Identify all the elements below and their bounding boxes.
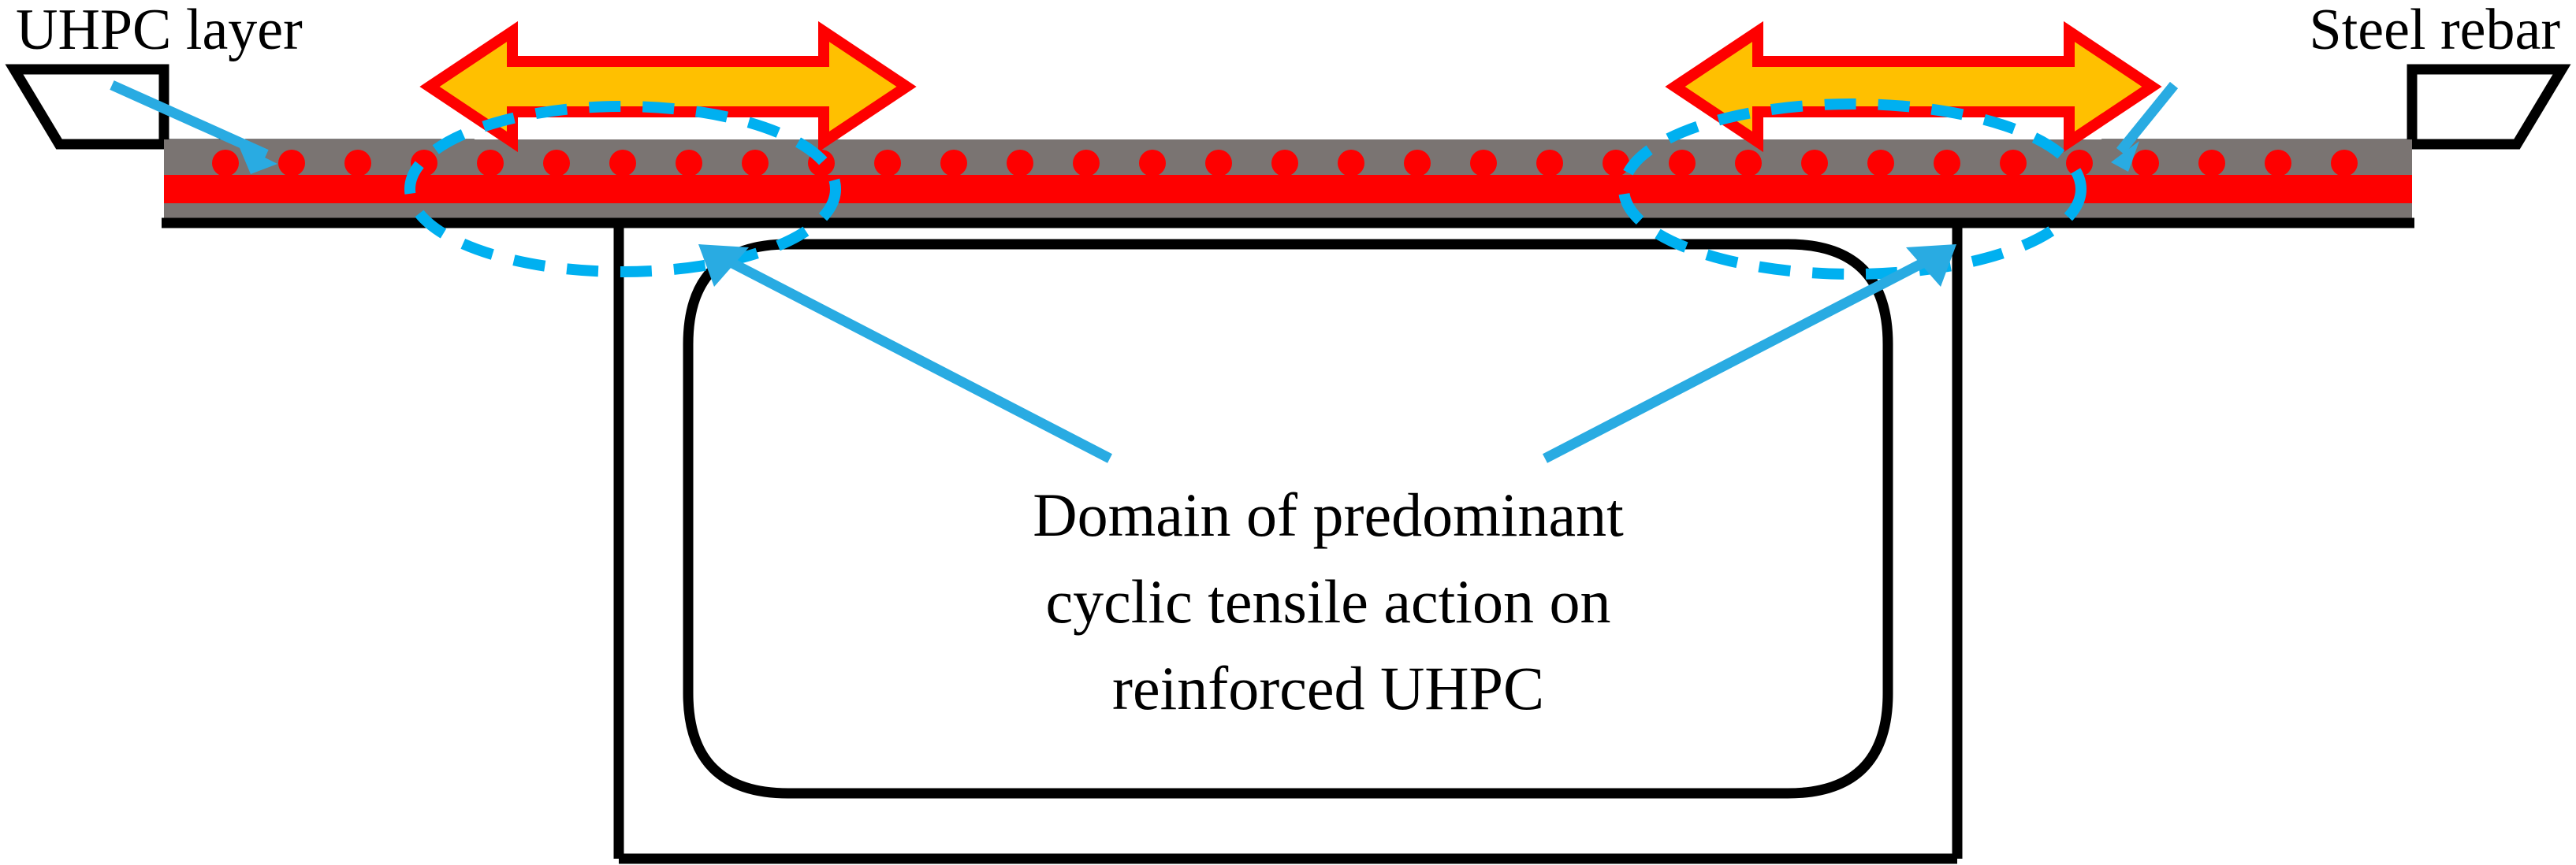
rebar-dot (1404, 150, 1431, 176)
rebar-dot (940, 150, 967, 176)
rebar-dot (1536, 150, 1563, 176)
rebar-dot (2198, 150, 2225, 176)
rebar-dot (1603, 150, 1629, 176)
rebar-dot (676, 150, 702, 176)
uhpc-layer-label: UHPC layer (16, 0, 303, 62)
rebar-dot (1669, 150, 1696, 176)
domain-caption-line-2: cyclic tensile action on (1046, 567, 1611, 636)
rebar-dot (2132, 150, 2159, 176)
rebar-dot (1470, 150, 1497, 176)
rebar-dot (543, 150, 570, 176)
rebar-dot (1073, 150, 1100, 176)
rebar-dot (477, 150, 504, 176)
bridge-cross-section-figure: UHPC layer Steel rebar Domain of predomi… (0, 0, 2576, 865)
rebar-dot (212, 150, 239, 176)
rebar-dot (1735, 150, 1762, 176)
rebar-dot (1205, 150, 1232, 176)
diagram-canvas: UHPC layer Steel rebar Domain of predomi… (0, 0, 2576, 865)
left-cantilever-tip (14, 69, 164, 144)
rebar-dot (742, 150, 769, 176)
rebar-dot (1867, 150, 1894, 176)
rebar-dot (2000, 150, 2027, 176)
rebar-dot (1338, 150, 1364, 176)
rebar-dot (1934, 150, 1960, 176)
rebar-dot (2331, 150, 2358, 176)
tension-arrow-group (430, 32, 2152, 142)
right-tension-arrow (1675, 32, 2152, 142)
rebar-dot (344, 150, 371, 176)
rebar-dot (1271, 150, 1298, 176)
rebar-dot (2265, 150, 2291, 176)
rebar-dot (874, 150, 901, 176)
domain-caption-line-1: Domain of predominant (1033, 481, 1624, 549)
right-cantilever-tip (2412, 69, 2562, 144)
rebar-dot (1801, 150, 1828, 176)
rebar-dot (1007, 150, 1033, 176)
rebar-dot (609, 150, 636, 176)
domain-caption-line-3: reinforced UHPC (1112, 654, 1544, 722)
rebar-dot (1139, 150, 1166, 176)
rebar-dot (278, 150, 305, 176)
steel-rebar-label: Steel rebar (2310, 0, 2560, 62)
